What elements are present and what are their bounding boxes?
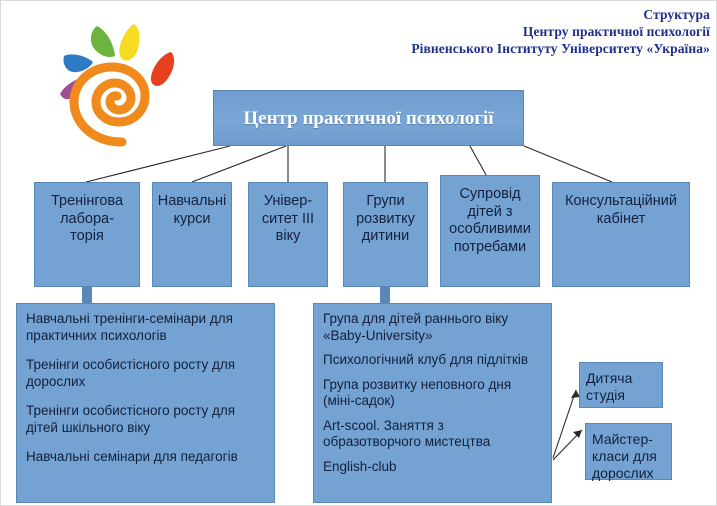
unit-label-3: Універ- ситет III віку — [262, 193, 314, 246]
title-line-1: Структура — [320, 6, 710, 23]
side-box-master-classes-for-adults[interactable]: Майстер-класи для дорослих — [585, 423, 672, 480]
unit-box-university-third-age[interactable]: Універ- ситет III віку — [248, 182, 328, 287]
arrow-to-childrens-studio — [553, 390, 580, 458]
side-box-label-1: Дитяча студія — [586, 370, 656, 404]
side-box-childrens-studio[interactable]: Дитяча студія — [579, 362, 663, 408]
center-panel-item: Психологічний клуб для підлітків — [323, 352, 542, 369]
logo-spiral-palm — [74, 67, 145, 142]
connector-root-to-unit-2 — [192, 146, 286, 182]
unit-box-consulting-office[interactable]: Консультаційний кабінет — [552, 182, 690, 287]
unit-label-4: Групи розвитку дитини — [356, 193, 415, 246]
left-panel-item: Навчальні семінари для педагогів — [26, 449, 265, 466]
center-panel-item: Група для дітей раннього віку «Baby-Univ… — [323, 311, 542, 344]
connector-root-to-unit-1 — [86, 146, 230, 182]
left-panel-item: Тренінги особистісного росту для доросли… — [26, 357, 265, 390]
root-node-label: Центр практичної психології — [243, 110, 493, 127]
logo-finger-red — [151, 52, 174, 86]
logo-finger-green — [91, 26, 115, 57]
center-panel-item: English-club — [323, 459, 542, 476]
detail-panel-child-development-groups: Група для дітей раннього віку «Baby-Univ… — [313, 303, 552, 503]
unit-box-educational-courses[interactable]: Навчальні курси — [152, 182, 232, 287]
slide-canvas: Структура Центру практичної психології Р… — [0, 0, 717, 506]
unit-box-support-for-children-with-special-needs[interactable]: Супровід дітей з особливими потребами — [440, 175, 540, 287]
title-line-2: Центру практичної психології — [320, 23, 710, 40]
colorful-hand-spiral-logo — [48, 18, 188, 150]
side-box-label-2: Майстер-класи для дорослих — [592, 431, 665, 482]
unit-label-2: Навчальні курси — [158, 193, 226, 228]
arrow-to-master-classes — [553, 430, 582, 460]
center-panel-item: Група розвитку неповного дня (міні-садок… — [323, 377, 542, 410]
detail-panel-training-laboratory: Навчальні тренінги-семінари для практичн… — [16, 303, 275, 503]
root-node-center-of-practical-psychology[interactable]: Центр практичної психології — [213, 90, 524, 146]
title-line-3: Рівненського Інституту Університету «Укр… — [320, 40, 710, 57]
unit-label-1: Тренінгова лабора- торія — [51, 193, 123, 246]
unit-label-5: Супровід дітей з особливими потребами — [449, 186, 531, 256]
left-panel-item: Навчальні тренінги-семінари для практичн… — [26, 311, 265, 344]
unit-box-training-laboratory[interactable]: Тренінгова лабора- торія — [34, 182, 140, 287]
unit-label-6: Консультаційний кабінет — [565, 193, 677, 228]
center-panel-item: Art-scool. Заняття з образотворчого мист… — [323, 418, 542, 451]
page-title: Структура Центру практичної психології Р… — [320, 6, 710, 57]
left-panel-item: Тренінги особистісного росту для дітей ш… — [26, 403, 265, 436]
unit-box-child-development-groups[interactable]: Групи розвитку дитини — [343, 182, 428, 287]
logo-finger-yellow — [119, 24, 139, 61]
